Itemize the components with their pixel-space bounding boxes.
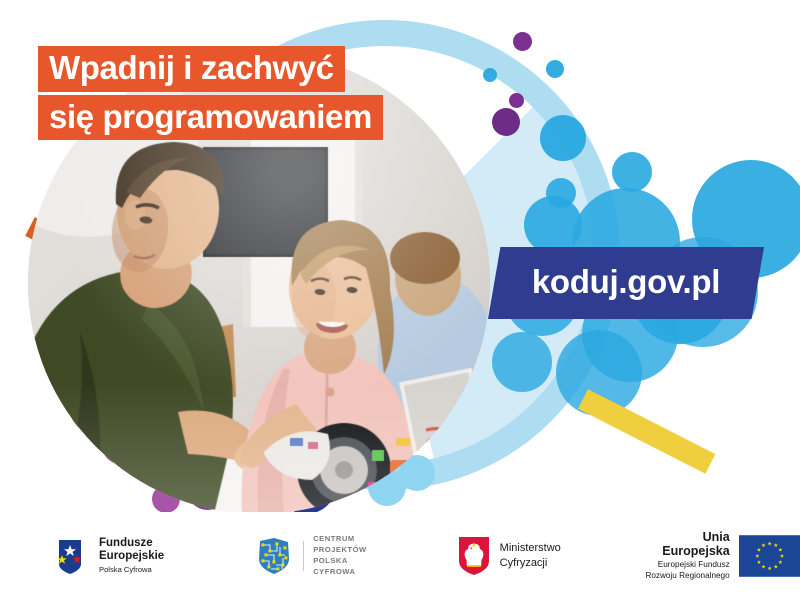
- cyan-circle: [612, 152, 652, 192]
- logo-mc-line-2: Cyfryzacji: [500, 556, 561, 571]
- logo-cppc-text: CENTRUM PROJEKTÓW POLSKA CYFROWA: [313, 534, 366, 577]
- eu-flag-icon: [739, 535, 800, 577]
- logo-cppc-line-1: CENTRUM: [313, 534, 366, 545]
- logo-ue-sub-2: Rozwoju Regionalnego: [633, 571, 730, 582]
- logo-ue-sub-1: Europejski Fundusz: [633, 560, 730, 571]
- logo-centrum-projektow-polska-cyfrowa: CENTRUM PROJEKTÓW POLSKA CYFROWA: [254, 534, 366, 577]
- headline-line-1: Wpadnij i zachwyć: [38, 46, 345, 92]
- purple-dot: [492, 108, 520, 136]
- website-url-text: koduj.gov.pl: [532, 263, 720, 303]
- poster-root: Wpadnij i zachwyć się programowaniem kod…: [0, 0, 800, 600]
- logo-fundusze-europejskie: Fundusze Europejskie Polska Cyfrowa: [52, 536, 164, 576]
- logo-cppc-divider: [303, 541, 304, 571]
- headline-line-2: się programowaniem: [38, 95, 383, 141]
- cyan-circle: [492, 332, 552, 392]
- logo-fe-text: Fundusze Europejskie Polska Cyfrowa: [99, 537, 164, 575]
- polish-eagle-coat-of-arms-icon: [457, 535, 491, 577]
- yellow-diagonal-bar: [578, 389, 715, 474]
- logo-ue-main: Unia Europejska: [633, 530, 730, 559]
- cyan-circle: [524, 196, 582, 254]
- cppc-poland-circuit-icon: [254, 535, 294, 577]
- logo-cppc-line-4: CYFROWA: [313, 567, 366, 578]
- logo-fe-sub: Polska Cyfrowa: [99, 565, 164, 574]
- logo-cppc-line-3: POLSKA: [313, 556, 366, 567]
- logo-ministerstwo-cyfryzacji: Ministerstwo Cyfryzacji: [457, 535, 561, 577]
- website-url-banner[interactable]: koduj.gov.pl: [488, 247, 764, 319]
- logo-fe-main-2: Europejskie: [99, 550, 164, 563]
- cyan-circle: [540, 115, 586, 161]
- logo-mc-line-1: Ministerstwo: [500, 541, 561, 556]
- fundusze-europejskie-flag-icon: [52, 536, 90, 576]
- logo-unia-europejska: Unia Europejska Europejski Fundusz Rozwo…: [633, 530, 800, 582]
- logo-cppc-line-2: PROJEKTÓW: [313, 545, 366, 556]
- funding-logo-strip: Fundusze Europejskie Polska Cyfrowa: [0, 512, 800, 600]
- logo-ue-text: Unia Europejska Europejski Fundusz Rozwo…: [633, 530, 730, 582]
- logo-fe-main-1: Fundusze: [99, 537, 164, 550]
- cyan-circle: [546, 60, 564, 78]
- logo-mc-text: Ministerstwo Cyfryzacji: [500, 541, 561, 571]
- headline: Wpadnij i zachwyć się programowaniem: [38, 46, 383, 140]
- purple-dot: [513, 32, 532, 51]
- purple-dot: [509, 93, 524, 108]
